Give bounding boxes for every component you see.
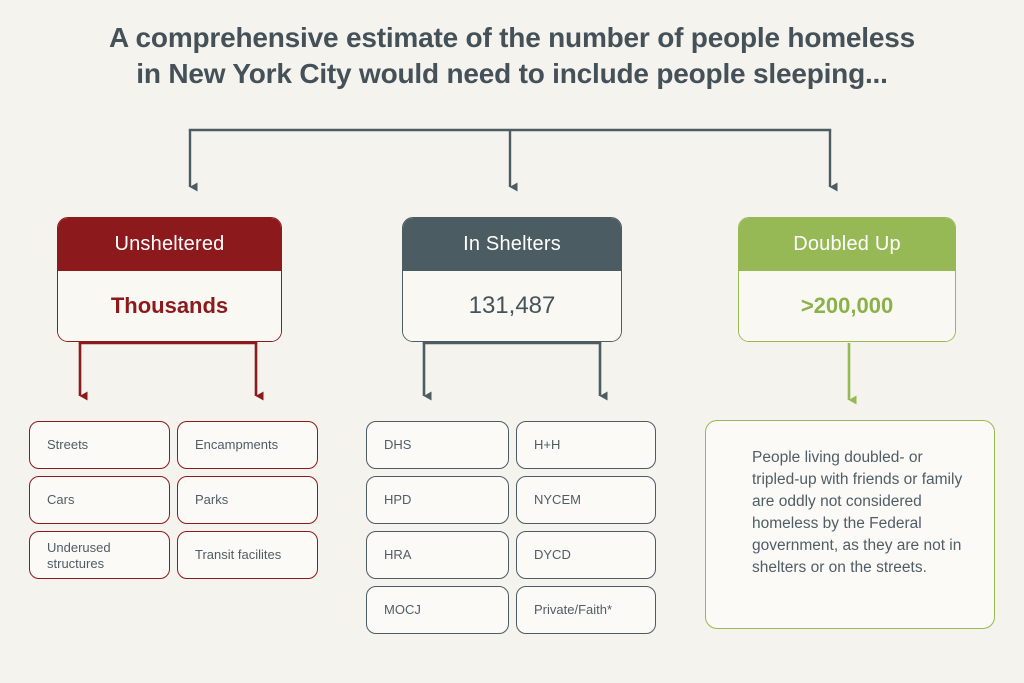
category-value-unsheltered: Thousands (58, 271, 281, 341)
page-title-line-1: A comprehensive estimate of the number o… (40, 20, 984, 56)
category-header-in-shelters: In Shelters (403, 218, 621, 271)
category-value-in-shelters: 131,487 (403, 271, 621, 341)
chip-underused-structures-line-2: structures (47, 556, 104, 571)
chip-underused-structures-text: Underused structures (47, 540, 111, 571)
chip-hpd[interactable]: HPD (366, 476, 509, 524)
chip-parks[interactable]: Parks (177, 476, 318, 524)
page-title: A comprehensive estimate of the number o… (0, 20, 1024, 92)
chip-transit-facilites[interactable]: Transit facilites (177, 531, 318, 579)
chip-hh[interactable]: H+H (516, 421, 656, 469)
chip-streets[interactable]: Streets (29, 421, 170, 469)
chip-underused-structures[interactable]: Underused structures (29, 531, 170, 579)
page-title-line-2: in New York City would need to include p… (40, 56, 984, 92)
chip-cars[interactable]: Cars (29, 476, 170, 524)
category-card-doubled-up[interactable]: Doubled Up >200,000 (738, 217, 956, 342)
category-card-in-shelters[interactable]: In Shelters 131,487 (402, 217, 622, 342)
chip-private-faith[interactable]: Private/Faith* (516, 586, 656, 634)
chip-encampments[interactable]: Encampments (177, 421, 318, 469)
top-connector-group (190, 130, 830, 187)
shelters-connector-group (424, 343, 600, 396)
infographic-canvas: A comprehensive estimate of the number o… (0, 0, 1024, 683)
chip-underused-structures-line-1: Underused (47, 540, 111, 555)
unsheltered-connector-group (80, 343, 256, 396)
category-card-unsheltered[interactable]: Unsheltered Thousands (57, 217, 282, 342)
category-header-unsheltered: Unsheltered (58, 218, 281, 271)
category-header-doubled-up: Doubled Up (739, 218, 955, 271)
chip-dycd[interactable]: DYCD (516, 531, 656, 579)
chip-nycem[interactable]: NYCEM (516, 476, 656, 524)
doubled-up-note: People living doubled- or tripled-up wit… (705, 420, 995, 629)
chip-mocj[interactable]: MOCJ (366, 586, 509, 634)
category-value-doubled-up: >200,000 (739, 271, 955, 341)
chip-dhs[interactable]: DHS (366, 421, 509, 469)
chip-hra[interactable]: HRA (366, 531, 509, 579)
